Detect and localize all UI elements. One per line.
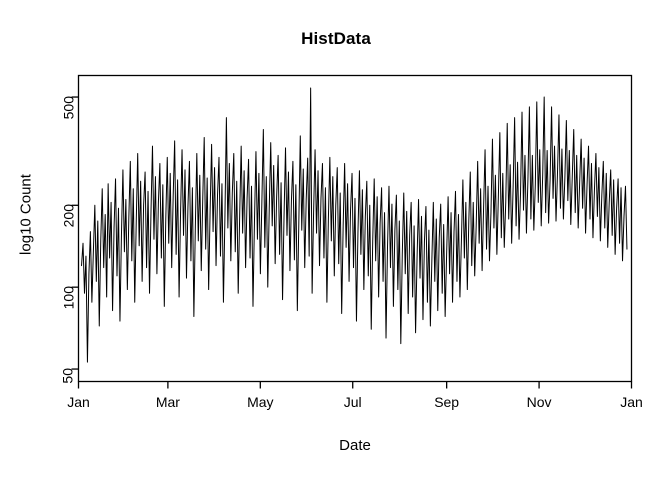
y-axis-tick-label: 50 bbox=[60, 368, 76, 384]
x-axis-tick-label: Jan bbox=[49, 394, 109, 410]
data-series-layer bbox=[82, 88, 627, 362]
x-axis-tick-label: Jan bbox=[602, 394, 662, 410]
axis-layer bbox=[72, 97, 632, 388]
r-plot-figure: HistData log10 Count Date 50100200500Jan… bbox=[0, 0, 672, 480]
x-axis-tick-label: Nov bbox=[509, 394, 569, 410]
y-axis-tick-label: 500 bbox=[60, 96, 76, 119]
y-axis-tick-label: 200 bbox=[60, 204, 76, 227]
y-axis-tick-label: 100 bbox=[60, 286, 76, 309]
x-axis-tick-label: Jul bbox=[323, 394, 383, 410]
x-axis-tick-label: May bbox=[230, 394, 290, 410]
data-series-line bbox=[82, 88, 627, 362]
x-axis-tick-label: Sep bbox=[417, 394, 477, 410]
x-axis-tick-label: Mar bbox=[138, 394, 198, 410]
